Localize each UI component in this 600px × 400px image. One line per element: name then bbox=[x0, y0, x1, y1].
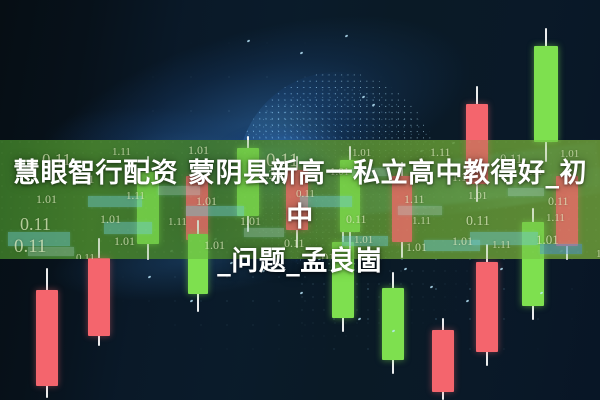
candlestick-body bbox=[534, 46, 558, 142]
banner-image: 0.111.111.010.111.011.110.111.011.110.21… bbox=[0, 0, 600, 400]
star-speck-icon bbox=[372, 103, 376, 106]
candlestick-body bbox=[36, 290, 58, 386]
star-speck-icon bbox=[362, 95, 366, 98]
page-title-line-2: _问题_孟良崮 bbox=[0, 240, 600, 284]
page-title: 慧眼智行配资 蒙阴县新高一私立高中教得好_初中 _问题_孟良崮 bbox=[0, 152, 600, 284]
star-speck-icon bbox=[358, 317, 362, 320]
page-title-line-1: 慧眼智行配资 蒙阴县新高一私立高中教得好_初中 bbox=[0, 152, 600, 240]
candlestick-body bbox=[432, 330, 454, 392]
